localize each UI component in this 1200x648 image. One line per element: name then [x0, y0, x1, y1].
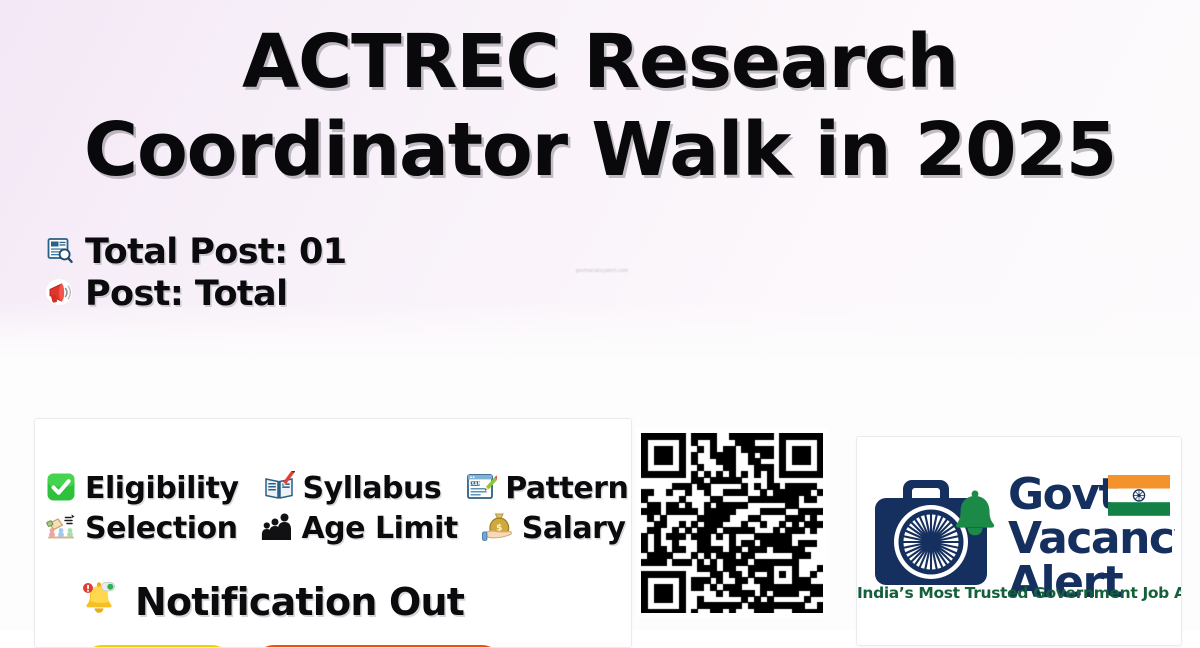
- open-book-pen-icon: [263, 471, 295, 508]
- feature-eligibility[interactable]: Eligibility: [45, 471, 239, 508]
- feature-label: Syllabus: [303, 472, 442, 506]
- info-card: Eligibility: [34, 418, 632, 648]
- title-line-1: ACTREC Research: [0, 18, 1200, 106]
- total-post-text: Total Post: 01: [85, 232, 347, 272]
- watermark-micro-text: govtvacancyalert.com: [575, 268, 629, 280]
- feature-label: Selection: [85, 512, 237, 546]
- feature-pattern[interactable]: EXAM Pattern: [465, 471, 628, 508]
- feature-salary[interactable]: $ Salary: [482, 511, 626, 548]
- feature-label: Age Limit: [301, 512, 457, 546]
- brand-logo-card: Govt Vacancy Alert India’s Most Trusted …: [856, 436, 1182, 646]
- bottom-section: Eligibility: [0, 366, 1200, 630]
- feature-line: Selection: [45, 509, 632, 549]
- post-total-text: Post: Total: [85, 274, 287, 314]
- title-line-2: Coordinator Walk in 2025: [0, 106, 1200, 194]
- post-summary: Total Post: 01 Post: Total: [44, 231, 347, 315]
- logo-tagline: India’s Most Trusted Government Job Aler…: [857, 584, 1182, 602]
- qr-code-canvas[interactable]: [641, 433, 823, 613]
- feature-grid: Eligibility: [45, 469, 632, 549]
- feature-label: Pattern: [505, 472, 628, 506]
- summary-row: Total Post: 01: [44, 231, 347, 273]
- check-mark-button-icon: [45, 471, 77, 508]
- feature-age-limit[interactable]: Age Limit: [261, 511, 457, 548]
- feature-label: Eligibility: [85, 472, 239, 506]
- feature-line: Eligibility: [45, 469, 632, 509]
- money-bag-hand-icon: $: [482, 511, 514, 548]
- hero-banner: ACTREC Research Coordinator Walk in 2025…: [0, 0, 1200, 366]
- summary-row: Post: Total: [44, 273, 347, 315]
- svg-text:EXAM: EXAM: [469, 480, 482, 485]
- notification-row: Notification Out: [77, 577, 464, 626]
- document-search-icon: [44, 235, 74, 270]
- feature-label: Salary: [522, 512, 626, 546]
- exam-paper-pencil-icon: EXAM: [465, 471, 497, 508]
- qr-code[interactable]: [636, 428, 828, 618]
- megaphone-icon: [44, 277, 74, 312]
- hand-selecting-people-icon: [45, 511, 77, 548]
- family-people-icon: [261, 511, 293, 548]
- brand-logo: Govt Vacancy Alert India’s Most Trusted …: [857, 443, 1182, 608]
- page-title: ACTREC Research Coordinator Walk in 2025: [0, 18, 1200, 194]
- notification-label: Notification Out: [135, 580, 464, 624]
- feature-syllabus[interactable]: Syllabus: [263, 471, 442, 508]
- feature-selection[interactable]: Selection: [45, 511, 237, 548]
- bell-notification-icon: [77, 577, 121, 626]
